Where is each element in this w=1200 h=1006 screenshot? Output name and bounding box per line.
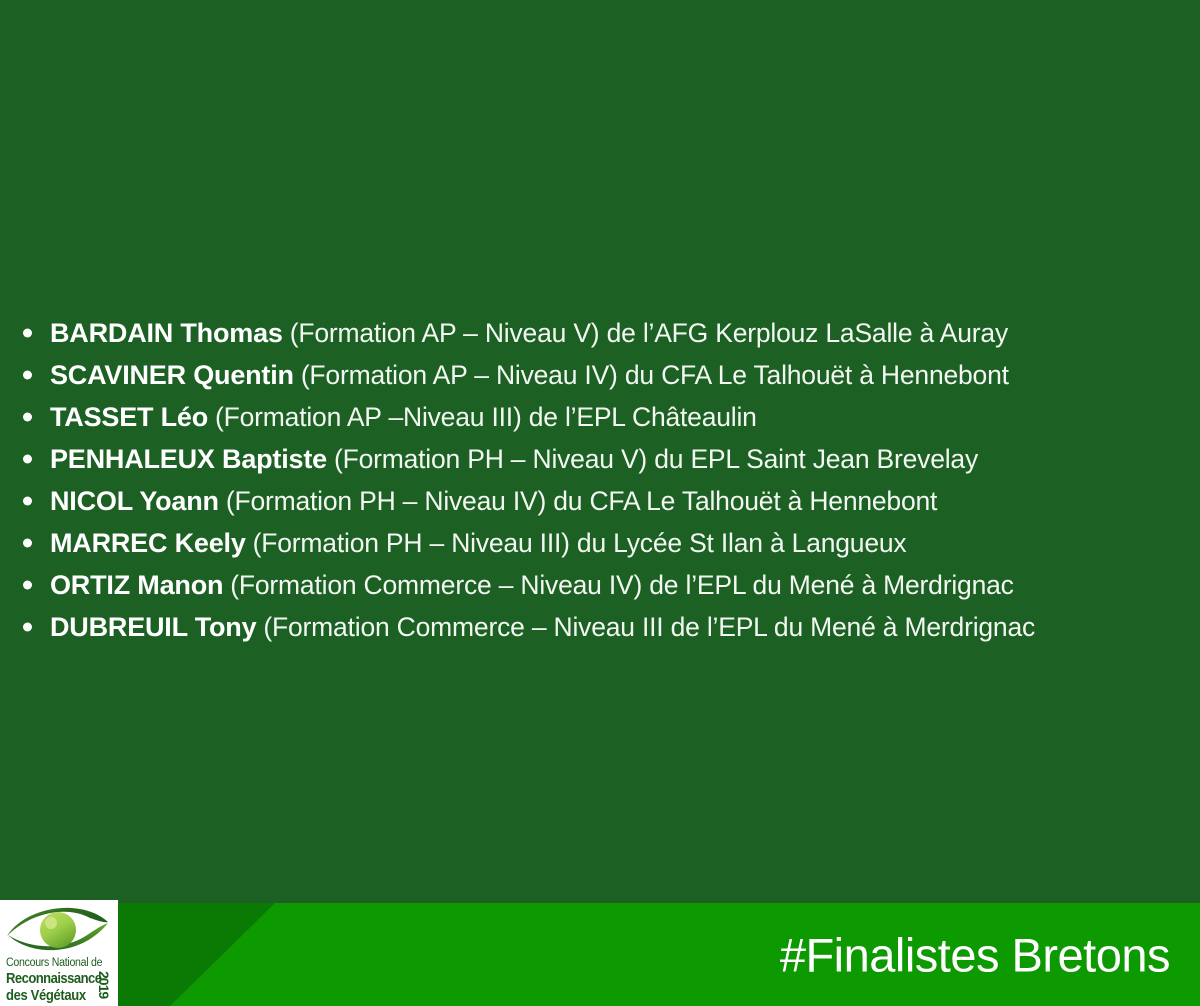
bullet-icon: [23, 539, 32, 548]
finalist-name: BARDAIN Thomas: [50, 320, 283, 347]
list-item: DUBREUIL Tony (Formation Commerce – Nive…: [0, 606, 1200, 648]
finalist-name: SCAVINER Quentin: [50, 362, 294, 389]
logo-wordmark: Concours National de Reconnaissance des …: [4, 957, 116, 1005]
finalists-list: BARDAIN Thomas (Formation AP – Niveau V)…: [0, 312, 1200, 648]
list-item: PENHALEUX Baptiste (Formation PH – Nivea…: [0, 438, 1200, 480]
bullet-icon: [23, 329, 32, 338]
finalist-name: ORTIZ Manon: [50, 572, 223, 599]
logo-line-concours: Concours National de: [6, 957, 102, 969]
finalist-name: TASSET Léo: [50, 404, 208, 431]
finalist-detail: (Formation PH – Niveau V) du EPL Saint J…: [334, 446, 978, 473]
logo-line-vegetaux: des Végétaux: [6, 988, 86, 1004]
slide-canvas: BARDAIN Thomas (Formation AP – Niveau V)…: [0, 0, 1200, 1006]
finalist-detail: (Formation PH – Niveau III) du Lycée St …: [253, 530, 907, 557]
finalist-detail: (Formation AP –Niveau III) de l’EPL Chât…: [215, 404, 757, 431]
finalist-name: MARREC Keely: [50, 530, 246, 557]
bullet-icon: [23, 497, 32, 506]
bullet-icon: [23, 581, 32, 590]
finalist-detail: (Formation AP – Niveau V) de l’AFG Kerpl…: [290, 320, 1008, 347]
finalist-detail: (Formation Commerce – Niveau IV) de l’EP…: [230, 572, 1013, 599]
logo-year: 2019: [96, 971, 112, 998]
eye-logo-icon: [4, 902, 114, 958]
bullet-icon: [23, 455, 32, 464]
finalist-name: PENHALEUX Baptiste: [50, 446, 327, 473]
finalist-detail: (Formation AP – Niveau IV) du CFA Le Tal…: [301, 362, 1009, 389]
logo: Concours National de Reconnaissance des …: [0, 900, 118, 1006]
footer-bar: #Finalistes Bretons: [0, 903, 1200, 1006]
list-item: SCAVINER Quentin (Formation AP – Niveau …: [0, 354, 1200, 396]
finalist-detail: (Formation PH – Niveau IV) du CFA Le Tal…: [226, 488, 937, 515]
list-item: TASSET Léo (Formation AP –Niveau III) de…: [0, 396, 1200, 438]
list-item: BARDAIN Thomas (Formation AP – Niveau V)…: [0, 312, 1200, 354]
finalist-name: NICOL Yoann: [50, 488, 219, 515]
bullet-icon: [23, 371, 32, 380]
list-item: MARREC Keely (Formation PH – Niveau III)…: [0, 522, 1200, 564]
list-item: ORTIZ Manon (Formation Commerce – Niveau…: [0, 564, 1200, 606]
logo-line-reconnaissance: Reconnaissance: [6, 971, 101, 987]
bullet-icon: [23, 413, 32, 422]
hashtag-label: #Finalistes Bretons: [780, 927, 1170, 982]
list-item: NICOL Yoann (Formation PH – Niveau IV) d…: [0, 480, 1200, 522]
finalist-name: DUBREUIL Tony: [50, 614, 256, 641]
finalist-detail: (Formation Commerce – Niveau III de l’EP…: [263, 614, 1035, 641]
bullet-icon: [23, 623, 32, 632]
